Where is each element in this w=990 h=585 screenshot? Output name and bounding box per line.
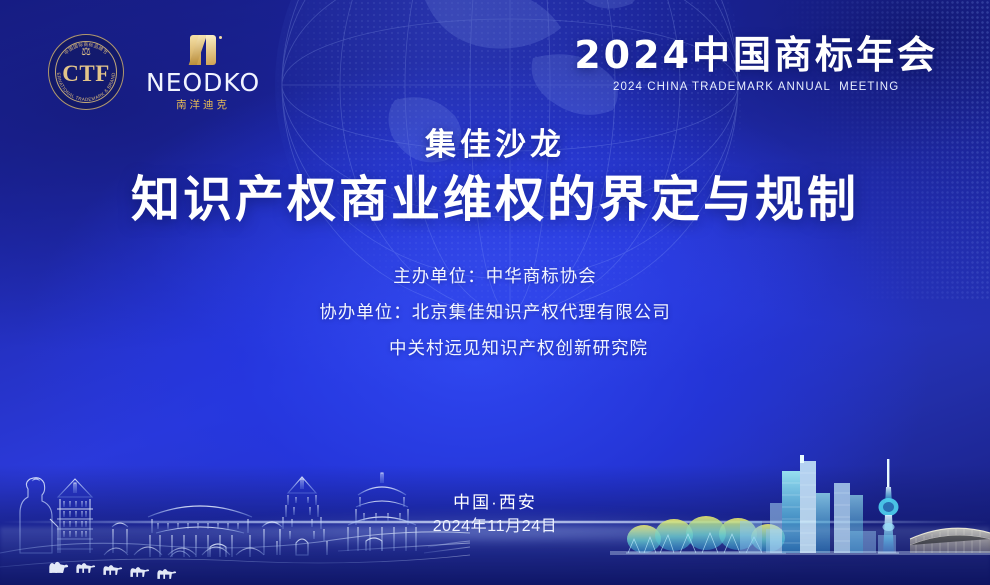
event-subtitle: 集佳沙龙 (0, 128, 990, 162)
event-main-title: 知识产权商业维权的界定与规制 (0, 171, 990, 229)
neodko-logo: NEODKO 南洋迪克 (146, 33, 260, 111)
meeting-title-cn: 2024中国商标年会 (574, 36, 938, 74)
poster-canvas: 中国国际商标品牌节 CHINA INTERNATIONAL TRADEMARK … (0, 0, 990, 585)
logo-group: 中国国际商标品牌节 CHINA INTERNATIONAL TRADEMARK … (48, 33, 260, 111)
neodko-n-mark-icon (188, 35, 218, 65)
place-date-block: 中国·西安 2024年11月24日 (0, 492, 990, 538)
event-city: 中国·西安 (0, 492, 990, 515)
organizer-block: 主办单位：中华商标协会 协办单位：北京集佳知识产权代理有限公司 中关村远见知识产… (0, 259, 990, 367)
title-block: 集佳沙龙 知识产权商业维权的界定与规制 (0, 128, 990, 229)
meeting-branding: 2024中国商标年会 2024 CHINA TRADEMARK ANNUAL M… (574, 36, 938, 93)
meeting-title-en: 2024 CHINA TRADEMARK ANNUAL MEETING (574, 81, 938, 93)
event-date: 2024年11月24日 (0, 515, 990, 538)
emblem-monogram: CTF (48, 34, 124, 110)
camel-caravan-icon (49, 562, 176, 579)
organizer-line: 中关村远见知识产权创新研究院 (0, 331, 990, 367)
organizer-line: 主办单位：中华商标协会 (0, 259, 990, 295)
bridge-arches-icon (100, 547, 270, 555)
organizer-line: 协办单位：北京集佳知识产权代理有限公司 (0, 295, 990, 331)
neodko-chinese-name: 南洋迪克 (176, 100, 230, 111)
china-trademark-festival-emblem: 中国国际商标品牌节 CHINA INTERNATIONAL TRADEMARK … (48, 34, 124, 110)
neodko-wordmark: NEODKO (146, 70, 260, 95)
